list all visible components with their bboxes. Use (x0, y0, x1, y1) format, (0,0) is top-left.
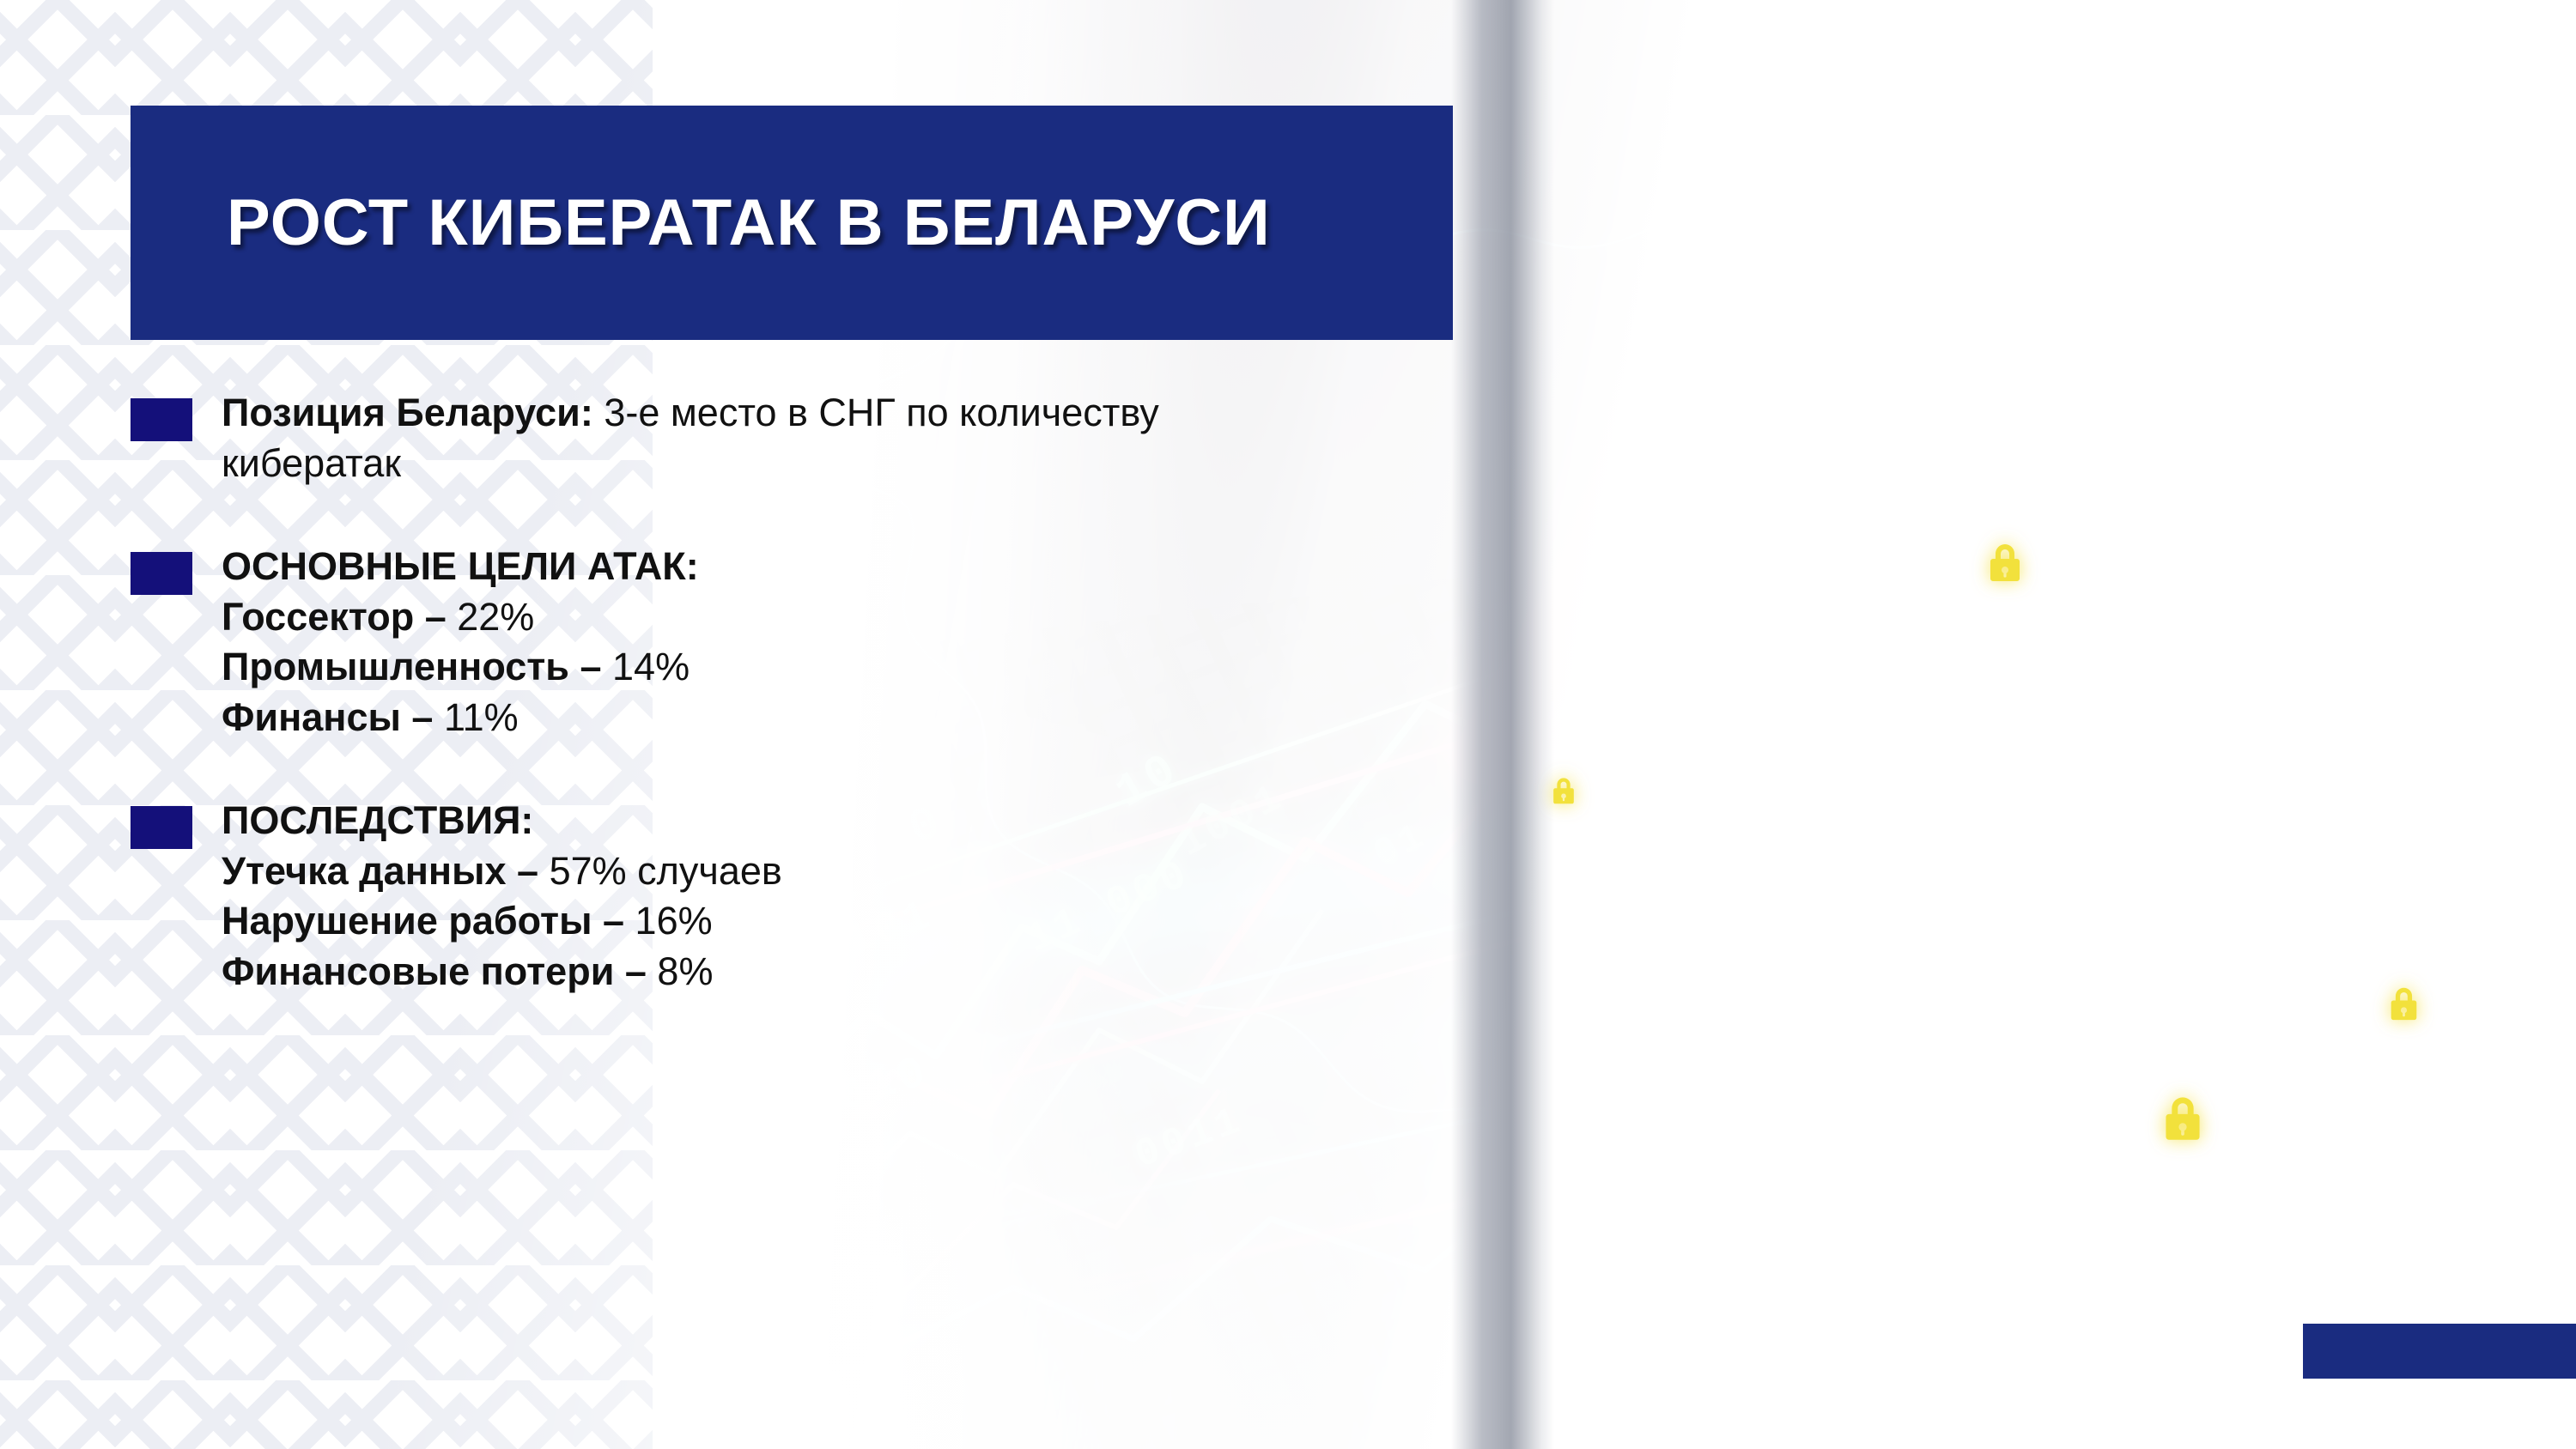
consequence-item: Финансовые потери – 8% (222, 947, 1212, 997)
position-label: Позиция Беларуси: (222, 391, 593, 434)
consequence-dash: – (507, 849, 550, 893)
content-blocks: Позиция Беларуси: 3-е место в СНГ по кол… (131, 388, 1212, 997)
consequence-label: Финансовые потери (222, 949, 614, 993)
target-item: Госсектор – 22% (222, 592, 1212, 643)
consequence-item: Утечка данных – 57% случаев (222, 846, 1212, 897)
target-dash: – (569, 645, 612, 688)
target-value: 14% (612, 645, 690, 688)
page-title: РОСТ КИБЕРАТАК В БЕЛАРУСИ (227, 185, 1271, 260)
slide-canvas: 10 1001 0 0101 11 000 01 1010 0011 10011… (0, 0, 2576, 1449)
block-targets: ОСНОВНЫЕ ЦЕЛИ АТАК: Госсектор – 22% Пром… (131, 542, 1212, 743)
consequence-value: 8% (657, 949, 713, 993)
block-position-body: Позиция Беларуси: 3-е место в СНГ по кол… (222, 388, 1212, 488)
corner-accent-bar (2303, 1324, 2576, 1379)
target-dash: – (414, 595, 457, 639)
consequence-value: 16% (635, 899, 713, 943)
bullet-square (131, 552, 192, 595)
bullet-square (131, 398, 192, 441)
block-position: Позиция Беларуси: 3-е место в СНГ по кол… (131, 388, 1212, 488)
consequence-value: 57% случаев (550, 849, 782, 893)
target-label: Госсектор (222, 595, 414, 639)
target-value: 22% (457, 595, 534, 639)
target-label: Промышленность (222, 645, 569, 688)
target-label: Финансы (222, 695, 401, 739)
bullet-square (131, 806, 192, 849)
targets-heading: ОСНОВНЫЕ ЦЕЛИ АТАК: (222, 542, 1212, 592)
consequences-heading: ПОСЛЕДСТВИЯ: (222, 796, 1212, 846)
consequence-label: Нарушение работы (222, 899, 592, 943)
target-dash: – (401, 695, 444, 739)
consequence-item: Нарушение работы – 16% (222, 896, 1212, 947)
target-item: Промышленность – 14% (222, 642, 1212, 693)
block-consequences: ПОСЛЕДСТВИЯ: Утечка данных – 57% случаев… (131, 796, 1212, 997)
position-line: Позиция Беларуси: 3-е место в СНГ по кол… (222, 388, 1212, 488)
title-banner: РОСТ КИБЕРАТАК В БЕЛАРУСИ (131, 106, 1453, 340)
silver-seam (1451, 0, 1554, 1449)
consequence-dash: – (614, 949, 657, 993)
target-value: 11% (444, 695, 519, 739)
target-item: Финансы – 11% (222, 693, 1212, 743)
consequence-dash: – (592, 899, 635, 943)
block-targets-body: ОСНОВНЫЕ ЦЕЛИ АТАК: Госсектор – 22% Пром… (222, 542, 1212, 743)
consequence-label: Утечка данных (222, 849, 507, 893)
block-consequences-body: ПОСЛЕДСТВИЯ: Утечка данных – 57% случаев… (222, 796, 1212, 997)
